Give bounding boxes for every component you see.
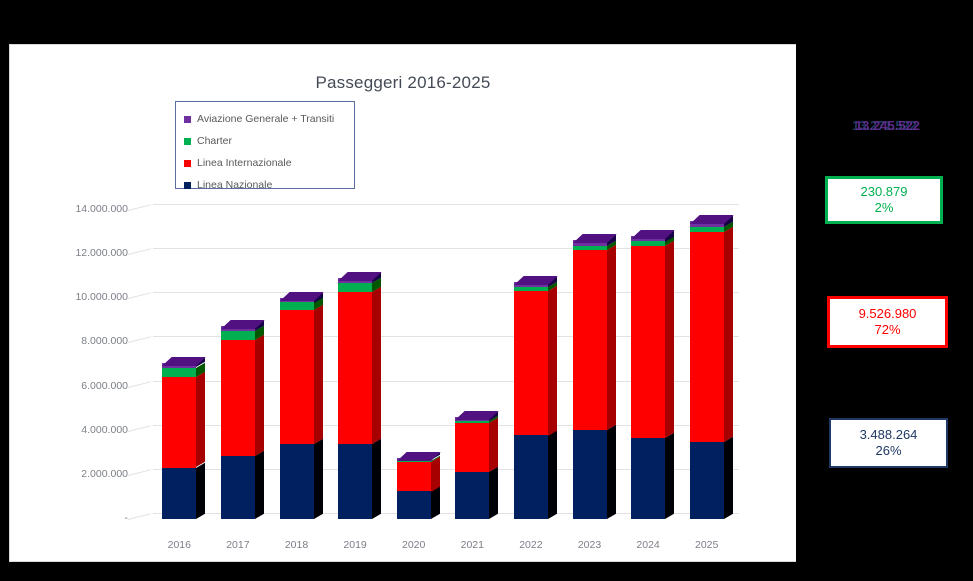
x-axis-tick-label: 2018: [270, 539, 324, 551]
bar-segment-side: [665, 241, 674, 438]
bar-segment: [455, 423, 489, 472]
bar-segment-front: [280, 310, 314, 444]
kpi-percent: 72%: [874, 322, 900, 338]
gridline-riser: [128, 513, 152, 520]
bar-segment-side: [548, 430, 557, 519]
x-axis-tick-label: 2017: [211, 539, 265, 551]
legend-swatch-icon: [184, 160, 191, 167]
bar-segment: [690, 232, 724, 442]
x-axis-tick-label: 2023: [563, 539, 617, 551]
bar-segment: [280, 444, 314, 519]
bar-segment-side: [372, 439, 381, 519]
y-axis-tick-label: 10.000.000: [20, 291, 128, 303]
bar-segment: [162, 368, 196, 377]
legend-swatch-icon: [184, 138, 191, 145]
bar-segment: [631, 236, 665, 242]
x-axis-tick-label: 2019: [328, 539, 382, 551]
y-axis-tick-label: 14.000.000: [20, 203, 128, 215]
bar-segment: [690, 227, 724, 232]
bar-segment-side: [372, 287, 381, 444]
bar-segment-side: [489, 467, 498, 519]
bar-segment: [162, 377, 196, 467]
y-axis-tick-label: 4.000.000: [20, 424, 128, 436]
x-axis-tick-label: 2020: [387, 539, 441, 551]
bar-segment-side: [255, 335, 264, 456]
bar-segment: [455, 417, 489, 421]
total-passengers-label: 13.271.522 13.245.522: [796, 118, 973, 133]
bar-segment: [631, 246, 665, 438]
bar-segment-front: [573, 246, 607, 250]
bar-segment: [397, 491, 431, 519]
kpi-percent: 26%: [875, 443, 901, 459]
legend-item-label: Linea Internazionale: [197, 157, 292, 169]
bar-segment-front: [514, 291, 548, 436]
bar-segment: [338, 283, 372, 292]
bar-segment-front: [631, 438, 665, 519]
bar-segment-front: [573, 250, 607, 430]
bar-segment: [573, 240, 607, 246]
legend-item-internazionale: Linea Internazionale: [184, 152, 346, 174]
x-axis-tick-label: 2022: [504, 539, 558, 551]
gridline-riser: [128, 292, 152, 299]
bar-segment-front: [455, 421, 489, 423]
x-axis-tick-label: 2021: [445, 539, 499, 551]
bar-segment: [514, 287, 548, 291]
bar-segment-front: [455, 423, 489, 472]
bar-segment-front: [338, 444, 372, 519]
bar-segment-front: [280, 444, 314, 519]
y-axis-tick-label: 12.000.000: [20, 247, 128, 259]
bar-segment: [514, 282, 548, 287]
bar-segment: [338, 278, 372, 283]
bar-column: [573, 45, 607, 519]
bar-column: [690, 45, 724, 519]
side-panel: 13.271.522 13.245.522 230.879 2% 9.526.9…: [796, 0, 973, 581]
bar-segment-front: [221, 456, 255, 519]
bar-segment-front: [221, 340, 255, 456]
bar-segment: [690, 221, 724, 227]
bar-segment-side: [607, 425, 616, 519]
legend-swatch-icon: [184, 182, 191, 189]
bar-segment-front: [514, 287, 548, 291]
bar-segment-side: [724, 437, 733, 519]
kpi-card-charter: 230.879 2%: [825, 176, 943, 224]
bar-segment-front: [690, 232, 724, 442]
bar-segment-front: [514, 435, 548, 519]
bar-segment: [455, 472, 489, 519]
kpi-value: 3.488.264: [860, 427, 918, 443]
bar-segment-side: [548, 285, 557, 435]
x-axis-tick-label: 2024: [621, 539, 675, 551]
bar-column: [631, 45, 665, 519]
bar-segment-side: [431, 456, 440, 491]
bar-segment-side: [255, 451, 264, 519]
gridline-riser: [128, 337, 152, 344]
x-axis-tick-label: 2016: [152, 539, 206, 551]
bar-segment: [162, 363, 196, 367]
bar-segment-side: [196, 372, 205, 468]
bar-segment-side: [196, 462, 205, 519]
bar-segment: [338, 444, 372, 519]
chart-panel: Passeggeri 2016-2025 -2.000.0004.000.000…: [10, 45, 796, 561]
bar-segment: [514, 291, 548, 436]
total-secondary-value: 13.245.522: [799, 118, 973, 133]
bar-segment: [631, 241, 665, 246]
bar-segment-front: [455, 472, 489, 519]
bar-segment-front: [162, 468, 196, 519]
gridline-riser: [128, 425, 152, 432]
bar-column: [397, 45, 431, 519]
bar-segment-front: [397, 462, 431, 492]
bar-segment-front: [280, 302, 314, 310]
y-axis-tick-label: 2.000.000: [20, 468, 128, 480]
bar-segment-side: [607, 245, 616, 430]
bar-segment-side: [314, 439, 323, 519]
bar-segment-side: [665, 433, 674, 519]
plot-area: -2.000.0004.000.0006.000.0008.000.00010.…: [10, 45, 796, 561]
bar-segment: [573, 246, 607, 250]
kpi-card-linea-nazionale: 3.488.264 26%: [829, 418, 948, 468]
gridline-riser: [128, 469, 152, 476]
bar-segment-front: [221, 331, 255, 340]
bar-segment-front: [338, 292, 372, 444]
bar-segment: [221, 456, 255, 519]
y-axis-tick-label: 6.000.000: [20, 380, 128, 392]
bar-segment-front: [690, 442, 724, 519]
y-axis-tick-label: -: [20, 512, 128, 524]
bar-segment-front: [631, 241, 665, 246]
bar-segment: [573, 250, 607, 430]
bar-segment: [162, 468, 196, 519]
bar-segment: [631, 438, 665, 519]
bar-segment: [514, 435, 548, 519]
bar-segment: [221, 326, 255, 331]
bar-segment: [221, 331, 255, 340]
bar-segment: [397, 462, 431, 492]
bar-segment-side: [314, 305, 323, 444]
legend-swatch-icon: [184, 116, 191, 123]
bar-segment: [280, 302, 314, 310]
legend-item-label: Linea Nazionale: [197, 179, 272, 191]
bar-segment-front: [338, 283, 372, 292]
gridline-riser: [128, 248, 152, 255]
legend-item-label: Charter: [197, 135, 232, 147]
bar-segment-front: [631, 246, 665, 438]
bar-segment: [280, 298, 314, 303]
bar-segment-front: [162, 368, 196, 377]
bar-segment-front: [397, 491, 431, 519]
bar-segment-front: [573, 430, 607, 519]
bar-segment: [338, 292, 372, 444]
legend-item-aviazione: Aviazione Generale + Transiti: [184, 108, 346, 130]
x-axis-tick-label: 2025: [680, 539, 734, 551]
bar-segment: [221, 340, 255, 456]
legend-item-nazionale: Linea Nazionale: [184, 174, 346, 196]
y-axis-tick-label: 8.000.000: [20, 335, 128, 347]
legend-item-charter: Charter: [184, 130, 346, 152]
bar-segment: [690, 442, 724, 519]
bar-segment-side: [724, 227, 733, 442]
chart-legend: Aviazione Generale + Transiti Charter Li…: [175, 101, 355, 189]
kpi-value: 230.879: [861, 184, 908, 200]
bar-segment: [397, 458, 431, 460]
gridline-riser: [128, 381, 152, 388]
gridline-riser: [128, 204, 152, 211]
kpi-percent: 2%: [875, 200, 894, 216]
kpi-card-linea-internazionale: 9.526.980 72%: [827, 296, 948, 348]
bar-column: [514, 45, 548, 519]
bar-segment: [280, 310, 314, 444]
bar-segment-front: [690, 227, 724, 232]
bar-segment-front: [162, 377, 196, 467]
bar-column: [455, 45, 489, 519]
legend-item-label: Aviazione Generale + Transiti: [197, 113, 334, 125]
bar-segment-side: [489, 418, 498, 472]
bar-segment: [455, 421, 489, 423]
bar-segment: [573, 430, 607, 519]
kpi-value: 9.526.980: [859, 306, 917, 322]
